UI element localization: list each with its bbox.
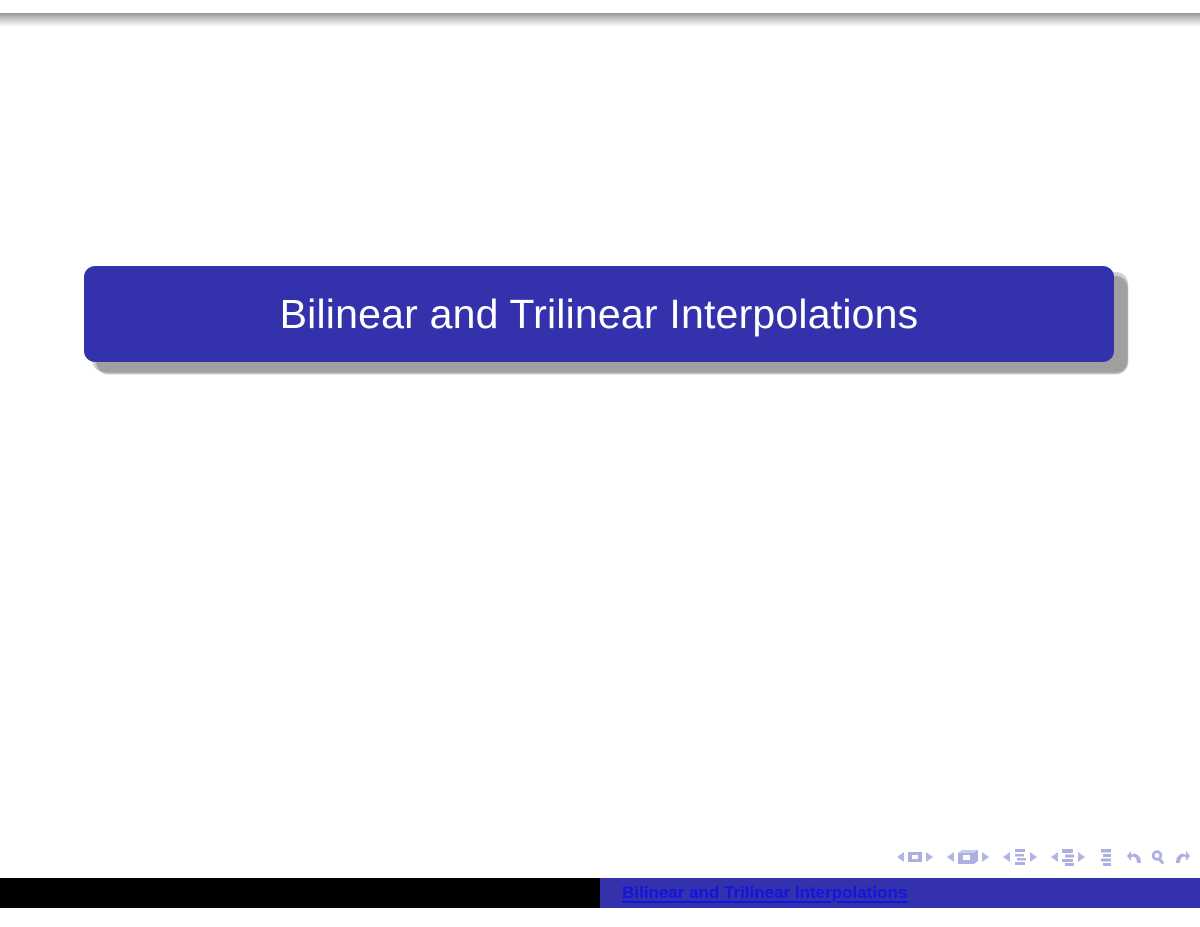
footline: Bilinear and Trilinear Interpolations xyxy=(0,878,1200,908)
frame-navigation-group[interactable] xyxy=(947,849,989,865)
headline-rule xyxy=(0,13,1200,27)
next-frame-icon[interactable] xyxy=(982,852,989,862)
section-navigation-group[interactable] xyxy=(1051,849,1085,866)
title-box: Bilinear and Trilinear Interpolations xyxy=(84,266,1114,362)
back-icon[interactable] xyxy=(1127,849,1147,865)
document-icon[interactable] xyxy=(1099,849,1113,866)
frame-icon[interactable] xyxy=(957,849,979,865)
document-navigation-group[interactable] xyxy=(1099,849,1113,866)
slide-navigation-group[interactable] xyxy=(897,850,933,864)
page-title: Bilinear and Trilinear Interpolations xyxy=(280,294,919,335)
previous-subsection-icon[interactable] xyxy=(1003,852,1010,862)
next-slide-icon[interactable] xyxy=(926,852,933,862)
footline-title-link[interactable]: Bilinear and Trilinear Interpolations xyxy=(622,883,907,903)
footline-right-block: Bilinear and Trilinear Interpolations xyxy=(600,878,1200,908)
slide-canvas: Bilinear and Trilinear Interpolations xyxy=(0,0,1200,927)
search-icon[interactable] xyxy=(1150,849,1167,865)
footline-left-block xyxy=(0,878,600,908)
slide-icon[interactable] xyxy=(907,850,923,864)
forward-icon[interactable] xyxy=(1170,849,1190,865)
next-subsection-icon[interactable] xyxy=(1030,852,1037,862)
history-navigation-group[interactable] xyxy=(1127,849,1190,865)
next-section-icon[interactable] xyxy=(1078,852,1085,862)
subsection-icon[interactable] xyxy=(1013,849,1027,866)
previous-slide-icon[interactable] xyxy=(897,852,904,862)
previous-frame-icon[interactable] xyxy=(947,852,954,862)
subsection-navigation-group[interactable] xyxy=(1003,849,1037,866)
title-block: Bilinear and Trilinear Interpolations xyxy=(0,266,1200,376)
previous-section-icon[interactable] xyxy=(1051,852,1058,862)
navigation-symbols[interactable] xyxy=(897,845,1192,869)
section-icon[interactable] xyxy=(1061,849,1075,866)
